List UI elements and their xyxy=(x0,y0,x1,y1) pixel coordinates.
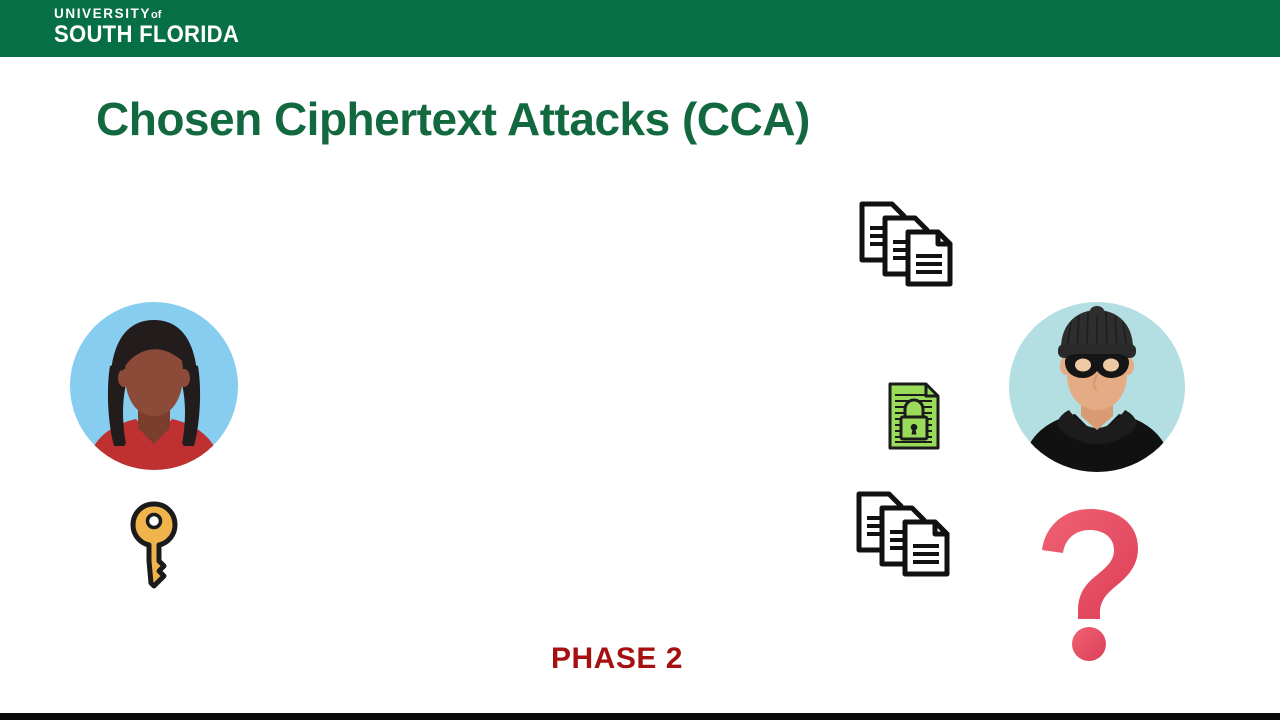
encrypted-document-icon xyxy=(887,381,941,451)
document-page-3-fold xyxy=(935,522,947,534)
phase-label: PHASE 2 xyxy=(551,642,683,676)
usf-logo-university-text: UNIVERSITY xyxy=(54,6,151,21)
question-mark-hook xyxy=(1042,509,1138,619)
page-title: Chosen Ciphertext Attacks (CCA) xyxy=(96,92,810,146)
avatar-sender-ear-left xyxy=(118,369,130,387)
avatar-attacker-eye-right xyxy=(1103,359,1119,372)
avatar-sender-ear-right xyxy=(178,369,190,387)
avatar-sender xyxy=(70,302,238,470)
usf-logo-line-state: SOUTH FLORIDA xyxy=(54,23,293,47)
question-mark-icon xyxy=(1040,507,1140,662)
usf-logo: UNIVERSITYof SOUTH FLORIDA xyxy=(54,7,314,51)
avatar-attacker xyxy=(1009,302,1185,472)
bottom-strip xyxy=(0,713,1280,720)
key-icon xyxy=(126,499,182,591)
documents-stack-top xyxy=(858,200,962,288)
document-page-3-fold xyxy=(938,232,950,244)
slide-canvas: UNIVERSITYof SOUTH FLORIDA Chosen Cipher… xyxy=(0,0,1280,720)
usf-logo-line-university: UNIVERSITYof xyxy=(54,7,314,21)
documents-stack-bottom xyxy=(855,490,959,578)
usf-logo-of-text: of xyxy=(151,9,161,21)
key-icon-hole xyxy=(148,515,161,528)
avatar-attacker-beanie-knot xyxy=(1090,306,1104,316)
question-mark-dot xyxy=(1072,627,1106,661)
usf-header-bar: UNIVERSITYof SOUTH FLORIDA xyxy=(0,0,1280,57)
padlock-shackle xyxy=(905,400,923,417)
avatar-attacker-eye-left xyxy=(1075,359,1091,372)
